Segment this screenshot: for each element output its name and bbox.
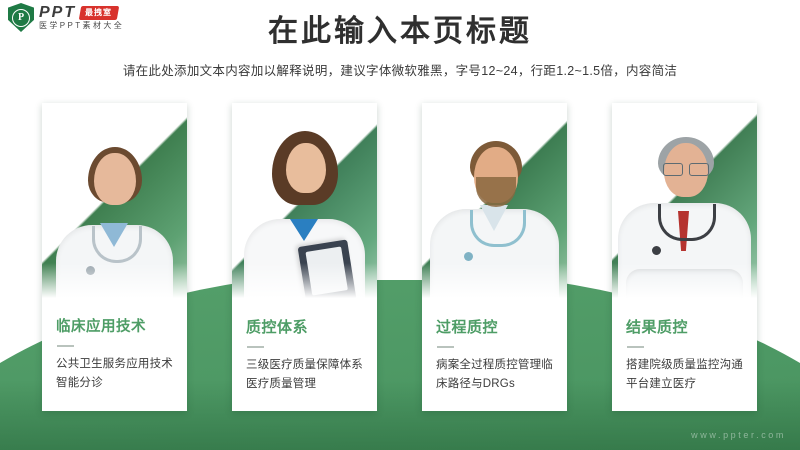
card-body: 质控体系 三级医疗质量保障体系医疗质量管理 xyxy=(232,303,377,411)
card-row: 临床应用技术 公共卫生服务应用技术智能分诊 质控体系 三 xyxy=(0,103,800,413)
card-title: 质控体系 xyxy=(246,319,363,337)
glasses-icon xyxy=(662,163,710,174)
card-description: 搭建院级质量监控沟通平台建立医疗 xyxy=(626,356,743,394)
scrub-neckline-shape xyxy=(290,219,318,241)
card-photo xyxy=(612,103,757,303)
card-divider xyxy=(247,346,264,348)
site-watermark: www.ppter.com xyxy=(691,430,786,440)
page-title: 在此输入本页标题 xyxy=(0,14,800,50)
content-card[interactable]: 结果质控 搭建院级质量监控沟通平台建立医疗 xyxy=(612,103,757,411)
head-shape xyxy=(286,143,326,193)
content-card[interactable]: 临床应用技术 公共卫生服务应用技术智能分诊 xyxy=(42,103,187,411)
stethoscope-icon xyxy=(658,204,716,241)
card-title: 结果质控 xyxy=(626,319,743,337)
content-card[interactable]: 质控体系 三级医疗质量保障体系医疗质量管理 xyxy=(232,103,377,411)
card-body: 临床应用技术 公共卫生服务应用技术智能分诊 xyxy=(42,303,187,411)
card-description: 公共卫生服务应用技术智能分诊 xyxy=(56,355,173,393)
photo-fade-overlay xyxy=(612,263,757,303)
card-divider xyxy=(57,345,74,347)
photo-fade-overlay xyxy=(232,263,377,303)
card-body: 过程质控 病案全过程质控管理临床路径与DRGs xyxy=(422,303,567,411)
card-divider xyxy=(437,346,454,348)
photo-fade-overlay xyxy=(42,263,187,303)
card-photo xyxy=(232,103,377,303)
page-subtitle: 请在此处添加文本内容加以解释说明，建议字体微软雅黑，字号12~24，行距1.2~… xyxy=(0,63,800,81)
card-description: 病案全过程质控管理临床路径与DRGs xyxy=(436,356,553,394)
card-title: 过程质控 xyxy=(436,319,553,337)
head-shape xyxy=(94,153,136,205)
card-photo xyxy=(42,103,187,303)
stethoscope-bell-icon xyxy=(464,252,473,261)
card-title: 临床应用技术 xyxy=(56,319,173,336)
card-body: 结果质控 搭建院级质量监控沟通平台建立医疗 xyxy=(612,303,757,411)
slide-canvas: P PPT 最拽室 医学PPT素材大全 在此输入本页标题 请在此处添加文本内容加… xyxy=(0,0,800,450)
card-description: 三级医疗质量保障体系医疗质量管理 xyxy=(246,356,363,394)
beard-shape xyxy=(476,177,516,207)
stethoscope-bell-icon xyxy=(652,246,661,255)
card-photo xyxy=(422,103,567,303)
photo-fade-overlay xyxy=(422,263,567,303)
content-card[interactable]: 过程质控 病案全过程质控管理临床路径与DRGs xyxy=(422,103,567,411)
card-divider xyxy=(627,346,644,348)
